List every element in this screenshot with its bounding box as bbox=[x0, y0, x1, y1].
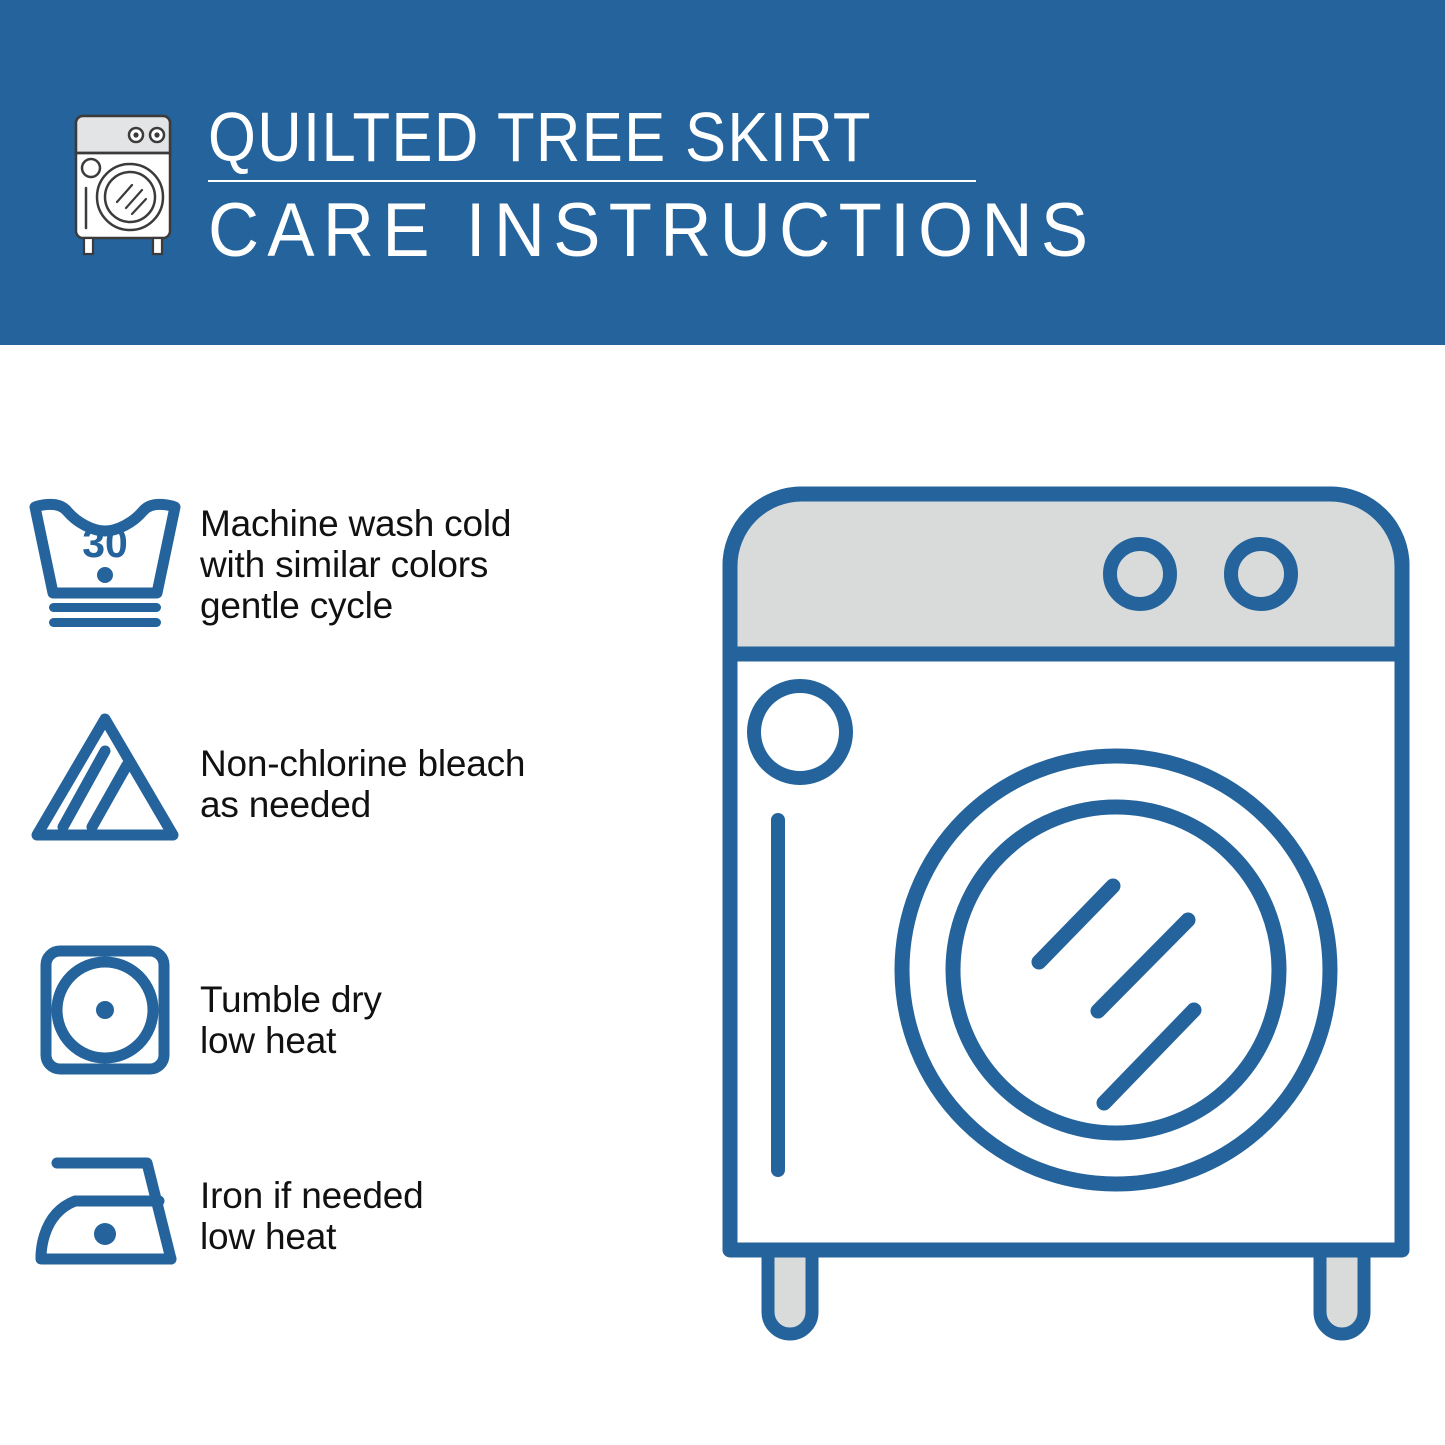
care-line: gentle cycle bbox=[200, 585, 700, 626]
care-text-iron: Iron if needed low heat bbox=[200, 1145, 700, 1257]
care-line: low heat bbox=[200, 1216, 700, 1257]
front-load-washing-machine-illustration bbox=[716, 470, 1416, 1370]
washing-machine-icon bbox=[62, 104, 184, 256]
header-text-block: QUILTED TREE SKIRT CARE INSTRUCTIONS bbox=[208, 100, 1008, 272]
care-row-tumble-dry: Tumble dry low heat bbox=[0, 937, 700, 1083]
care-line: as needed bbox=[200, 784, 700, 825]
machine-wash-30-gentle-icon: 30 bbox=[0, 485, 200, 635]
care-line: Non-chlorine bleach bbox=[200, 743, 700, 784]
care-line: low heat bbox=[200, 1020, 700, 1061]
care-line: Machine wash cold bbox=[200, 503, 700, 544]
page-title: QUILTED TREE SKIRT bbox=[208, 100, 912, 174]
header-banner: QUILTED TREE SKIRT CARE INSTRUCTIONS bbox=[0, 0, 1445, 345]
care-line: with similar colors bbox=[200, 544, 700, 585]
care-text-bleach: Non-chlorine bleach as needed bbox=[200, 705, 700, 825]
care-line: Tumble dry bbox=[200, 979, 700, 1020]
care-row-bleach: Non-chlorine bleach as needed bbox=[0, 705, 700, 851]
header-divider bbox=[208, 180, 976, 182]
care-instructions-list: 30 Machine wash cold with similar colors… bbox=[0, 345, 720, 1445]
care-row-iron: Iron if needed low heat bbox=[0, 1145, 700, 1277]
svg-text:30: 30 bbox=[82, 520, 128, 566]
page-subtitle: CARE INSTRUCTIONS bbox=[208, 190, 952, 272]
non-chlorine-bleach-triangle-icon bbox=[0, 705, 200, 851]
iron-low-heat-icon bbox=[0, 1145, 200, 1277]
tumble-dry-low-heat-icon bbox=[0, 937, 200, 1083]
care-text-machine-wash: Machine wash cold with similar colors ge… bbox=[200, 485, 700, 626]
care-row-machine-wash: 30 Machine wash cold with similar colors… bbox=[0, 485, 700, 635]
care-line: Iron if needed bbox=[200, 1175, 700, 1216]
care-text-tumble-dry: Tumble dry low heat bbox=[200, 937, 700, 1061]
